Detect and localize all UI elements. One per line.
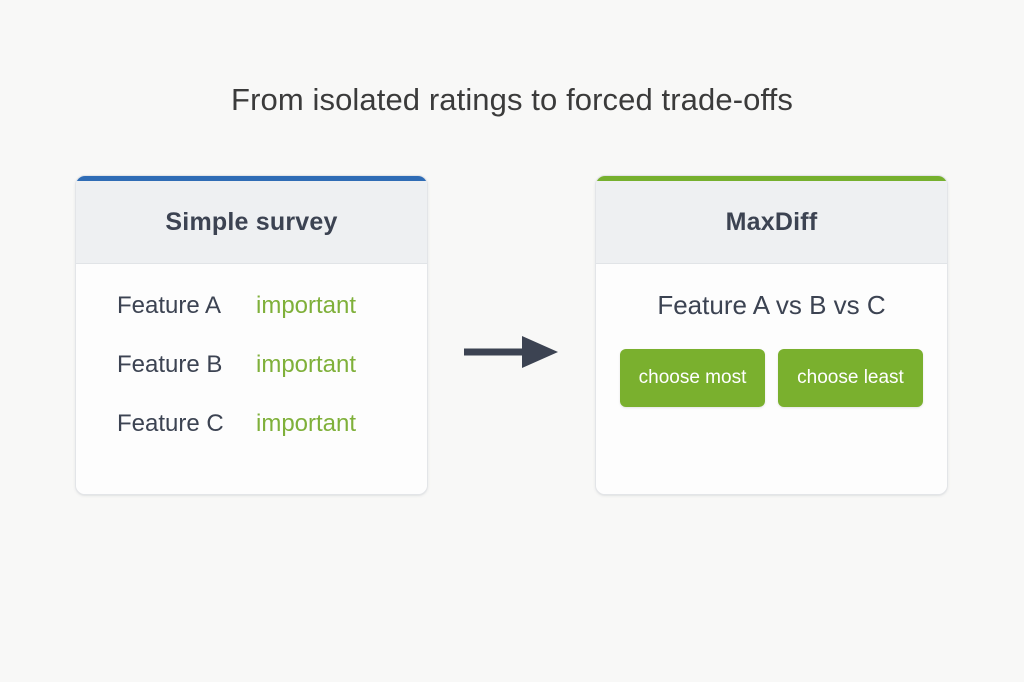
choose-most-button[interactable]: choose most [620,349,765,407]
simple-survey-card: Simple survey Feature A important Featur… [75,175,428,495]
feature-label: Feature A [117,292,256,320]
feature-rating-value: important [256,292,356,320]
list-item: Feature C important [76,410,427,469]
maxdiff-card: MaxDiff Feature A vs B vs C choose most … [595,175,948,495]
feature-rating-value: important [256,351,356,379]
simple-survey-card-header: Simple survey [76,181,427,264]
feature-label: Feature C [117,410,256,438]
maxdiff-question: Feature A vs B vs C [596,290,947,321]
simple-survey-card-body: Feature A important Feature B important … [76,264,427,495]
maxdiff-card-body: Feature A vs B vs C choose most choose l… [596,264,947,495]
maxdiff-choice-row: choose most choose least [596,349,947,407]
feature-label: Feature B [117,351,256,379]
feature-rating-list: Feature A important Feature B important … [76,264,427,469]
feature-rating-value: important [256,410,356,438]
maxdiff-card-header: MaxDiff [596,181,947,264]
page-title: From isolated ratings to forced trade-of… [0,82,1024,118]
simple-survey-title: Simple survey [165,208,337,237]
maxdiff-title: MaxDiff [726,208,818,237]
arrow-right-icon [462,332,562,372]
list-item: Feature A important [76,292,427,351]
slide-canvas: { "title": "From isolated ratings to for… [0,0,1024,682]
list-item: Feature B important [76,351,427,410]
choose-least-button[interactable]: choose least [778,349,923,407]
